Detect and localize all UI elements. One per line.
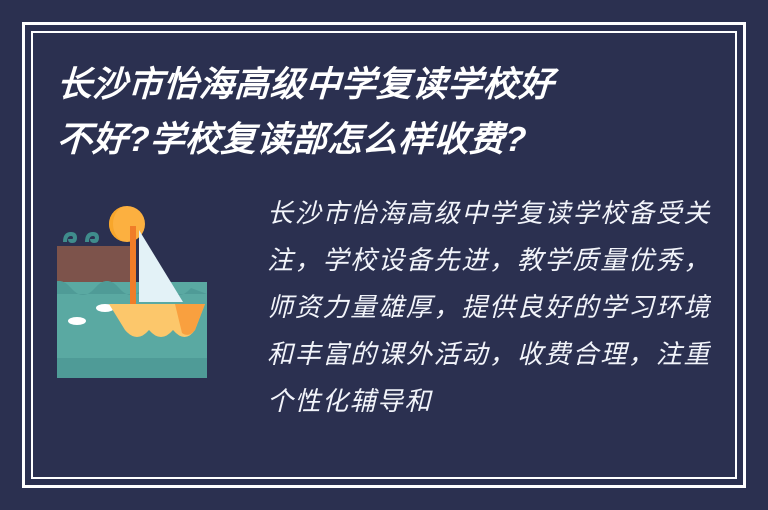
- grass-tufts-icon: [65, 234, 97, 242]
- sailboat-seascape-illustration: [57, 198, 207, 378]
- title-line-1: 长沙市怡海高级中学复读学校好: [56, 57, 659, 112]
- sailboat-mast: [130, 226, 136, 314]
- article-body-text: 长沙市怡海高级中学复读学校备受关注，学校设备先进，教学质量优秀，师资力量雄厚，提…: [267, 190, 711, 425]
- page-title: 长沙市怡海高级中学复读学校好 不好?学校复读部怎么样收费?: [57, 57, 657, 167]
- title-line-2: 不好?学校复读部怎么样收费?: [56, 112, 659, 167]
- content-area: 长沙市怡海高级中学复读学校备受关注，学校设备先进，教学质量优秀，师资力量雄厚，提…: [57, 190, 711, 470]
- sailboat-sail: [139, 230, 183, 302]
- article-card: 长沙市怡海高级中学复读学校好 不好?学校复读部怎么样收费?: [0, 0, 768, 510]
- water-foreground-band: [57, 358, 207, 378]
